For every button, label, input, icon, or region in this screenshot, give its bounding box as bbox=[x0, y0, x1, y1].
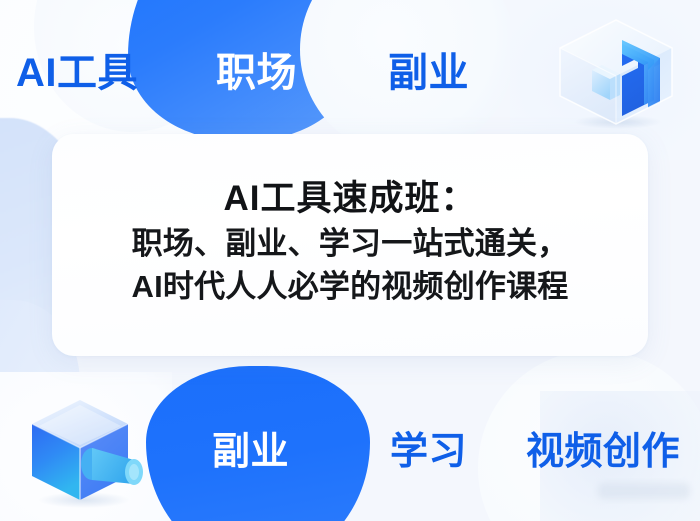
tag-study: 学习 bbox=[390, 420, 467, 475]
watermark bbox=[598, 483, 690, 499]
cube-plug-3d-icon bbox=[22, 392, 154, 510]
card-subtitle-line-2: AI时代人人必学的视频创作课程 bbox=[132, 266, 569, 308]
tag-video-creation: 视频创作 bbox=[526, 420, 680, 475]
card-subtitle-line-1: 职场、副业、学习一站式通关， bbox=[132, 223, 569, 265]
tag-workplace-top: 职场 bbox=[216, 40, 297, 98]
tag-ai-tools: AI工具 bbox=[16, 40, 138, 98]
poster-canvas: AI工具 职场 副业 bbox=[0, 0, 700, 521]
headline-card: AI工具速成班： 职场、副业、学习一站式通关， AI时代人人必学的视频创作课程 bbox=[52, 134, 648, 356]
glass-cube-3d-icon bbox=[548, 14, 684, 130]
card-title: AI工具速成班： bbox=[223, 178, 476, 219]
tag-sidehustle-bottom: 副业 bbox=[212, 420, 289, 475]
tag-sidehustle-top: 副业 bbox=[388, 40, 469, 98]
